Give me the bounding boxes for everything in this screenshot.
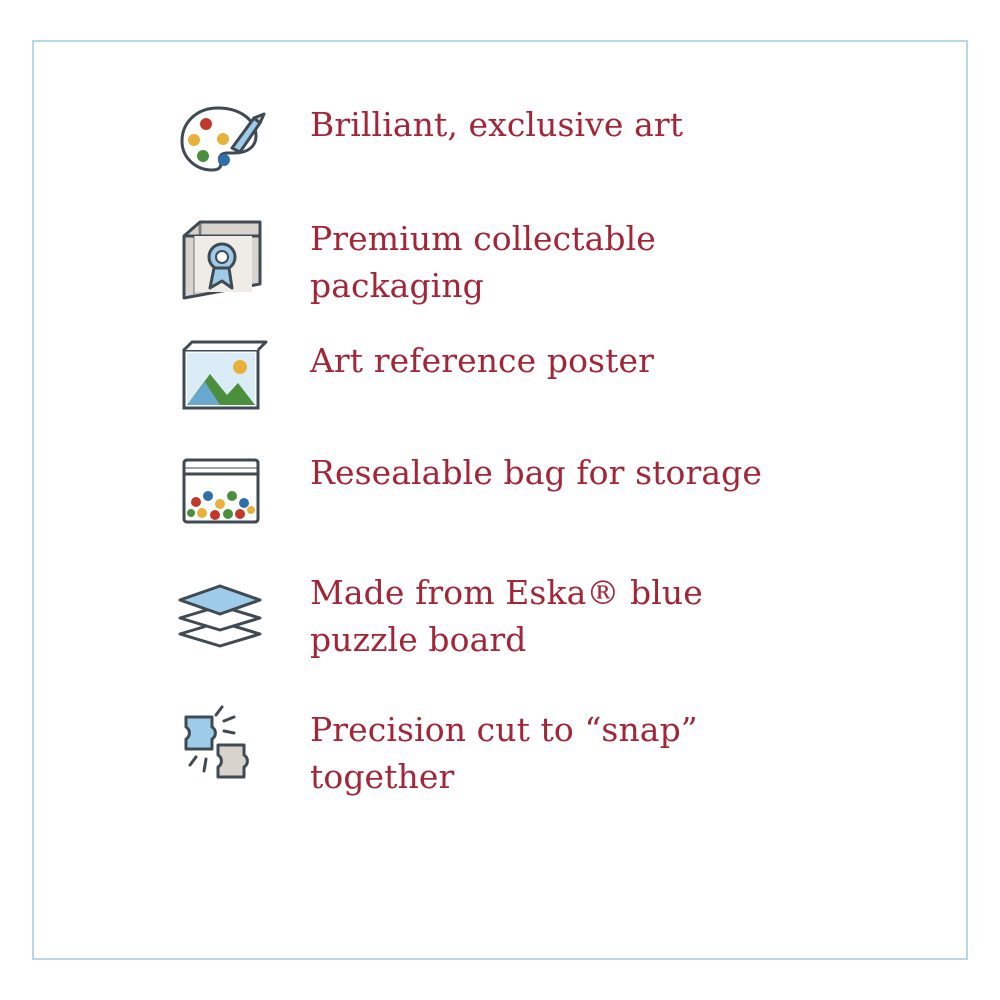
feature-item: Resealable bag for storage (160, 444, 860, 536)
feature-label: Resealable bag for storage (280, 444, 860, 497)
puzzle-pieces-icon (160, 701, 280, 793)
stacked-board-icon (160, 564, 280, 656)
feature-label: Made from Eska® blue puzzle board (280, 564, 860, 664)
feature-item: Precision cut to “snap” together (160, 701, 860, 801)
feature-item: Premium collectable packaging (160, 210, 860, 310)
premium-box-icon (160, 210, 280, 302)
feature-label: Precision cut to “snap” together (280, 701, 860, 801)
feature-item: Made from Eska® blue puzzle board (160, 564, 860, 664)
feature-label: Premium collectable packaging (280, 210, 860, 310)
feature-label: Art reference poster (280, 332, 860, 385)
feature-item: Brilliant, exclusive art (160, 96, 860, 188)
poster-picture-icon (160, 332, 280, 424)
paint-palette-icon (160, 96, 280, 188)
feature-list-graphic: Brilliant, exclusive art Premium collect… (0, 0, 1000, 1000)
feature-list: Brilliant, exclusive art Premium collect… (160, 96, 860, 821)
feature-item: Art reference poster (160, 332, 860, 424)
feature-label: Brilliant, exclusive art (280, 96, 860, 149)
resealable-bag-icon (160, 444, 280, 536)
